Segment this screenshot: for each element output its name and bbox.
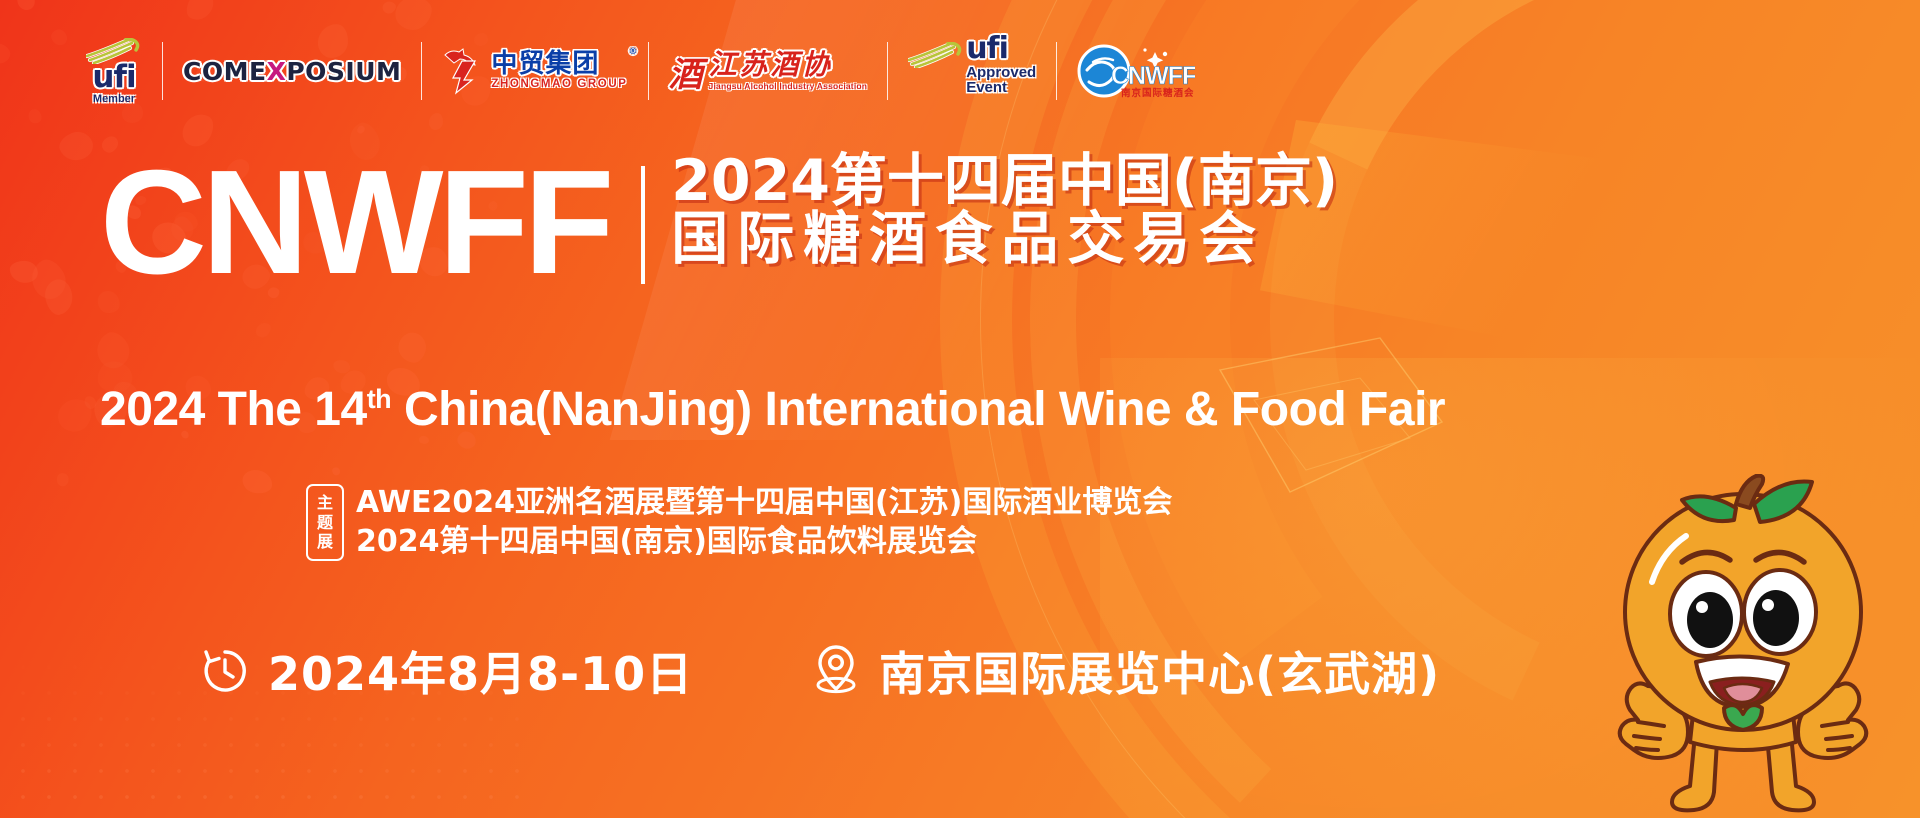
theme-exhibitions-block: 主 题 展 AWE2024亚洲名酒展暨第十四届中国(江苏)国际酒业博览会 202… (306, 484, 1172, 561)
event-date-text: 2024年8月8-10日 (268, 638, 693, 704)
ufi-member-tagline: Member (93, 94, 135, 105)
cn-title-line-1: 2024第十四届中国(南京) (671, 152, 1338, 210)
comexposium-text-right: POSIUM (286, 57, 401, 86)
comexposium-text-left: COME (183, 57, 267, 86)
logo-divider (648, 42, 649, 100)
orange-fruit-mascot (1590, 474, 1900, 818)
theme-line-2: 2024第十四届中国(南京)国际食品饮料展览会 (356, 525, 1172, 559)
theme-tag-char-2: 题 (317, 513, 333, 533)
cnwff-badge-wordmark: CNWFF (1111, 62, 1195, 90)
cnwff-globe-badge-icon: CNWFF 南京国际糖酒会 (1077, 40, 1195, 102)
jiangsu-en-name: Jiangsu Alcohol Industry Association (709, 82, 868, 91)
ufi-member-wordmark: ufi (92, 62, 135, 93)
jiangsu-seal-glyph: 酒 (669, 47, 703, 96)
ufi-approved-line3: Event (966, 80, 1036, 95)
cnwff-badge-cn-text: 南京国际糖酒会 (1121, 87, 1195, 99)
logo-divider (421, 42, 422, 100)
cnwff-logotype: CNWFF (100, 152, 609, 294)
zhongmao-horse-mark-icon (442, 47, 484, 95)
zhongmao-en-name: ZHONGMAO GROUP (491, 79, 627, 91)
clock-history-icon (200, 646, 250, 696)
comexposium-logo: COMEXPOSIUM (183, 34, 401, 108)
event-date-item: 2024年8月8-10日 (200, 638, 693, 704)
logo-divider (162, 42, 163, 100)
en-title-ordinal: th (367, 384, 391, 414)
en-title-after: China(NanJing) International Wine & Food… (391, 383, 1445, 436)
exhibition-banner: ufi Member COMEXPOSIUM 中贸集团® ZHONGMAO GR… (0, 0, 1920, 818)
ufi-approved-wing-icon (908, 42, 964, 68)
location-pin-icon (811, 644, 861, 698)
ufi-member-logo: ufi Member (86, 34, 142, 108)
event-venue-item: 南京国际展览中心(玄武湖) (811, 638, 1440, 704)
theme-exhibition-tag: 主 题 展 (306, 484, 344, 561)
comexposium-x-letter: X (267, 57, 287, 86)
event-meta-row: 2024年8月8-10日 南京国际展览中心(玄武湖) (200, 638, 1440, 704)
theme-line-1: AWE2024亚洲名酒展暨第十四届中国(江苏)国际酒业博览会 (356, 486, 1172, 520)
cnwff-badge-logo: CNWFF 南京国际糖酒会 (1077, 34, 1195, 108)
logo-divider (887, 42, 888, 100)
zhongmao-group-logo: 中贸集团® ZHONGMAO GROUP (442, 34, 627, 108)
ufi-approved-line2: Approved (966, 65, 1036, 80)
jiangsu-wine-association-logo: 酒 江苏酒协 Jiangsu Alcohol Industry Associat… (669, 34, 868, 108)
ufi-approved-event-logo: ufi Approved Event (908, 34, 1036, 108)
hero-vertical-divider (641, 166, 645, 284)
zhongmao-cn-name: 中贸集团® (491, 51, 627, 77)
partner-logo-strip: ufi Member COMEXPOSIUM 中贸集团® ZHONGMAO GR… (86, 34, 1195, 108)
jiangsu-cn-name: 江苏酒协 (709, 51, 868, 79)
ufi-approved-wordmark: ufi (966, 34, 1036, 65)
hero-title-block: CNWFF 2024第十四届中国(南京) 国际糖酒食品交易会 (100, 152, 1338, 294)
registered-mark: ® (629, 48, 639, 57)
en-title-before: 2024 The 14 (100, 383, 367, 436)
cn-title-line-2: 国际糖酒食品交易会 (671, 210, 1338, 268)
logo-divider (1056, 42, 1057, 100)
theme-tag-char-3: 展 (317, 532, 333, 552)
theme-tag-char-1: 主 (317, 493, 333, 513)
event-venue-text: 南京国际展览中心(玄武湖) (879, 638, 1440, 704)
en-title: 2024 The 14th China(NanJing) Internation… (100, 382, 1445, 437)
